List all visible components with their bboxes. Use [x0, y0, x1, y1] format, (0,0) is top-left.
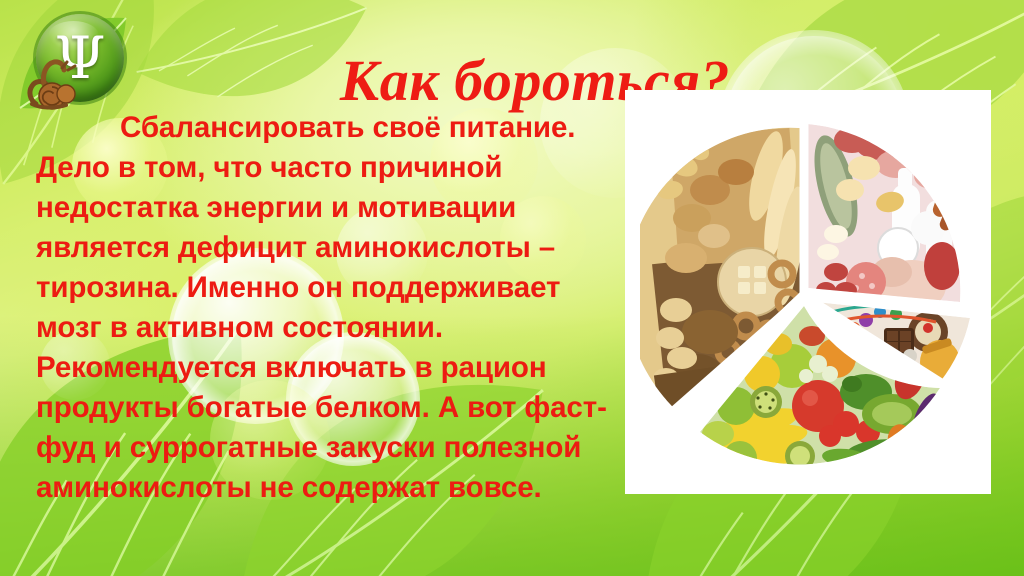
food-pie-illustration: [640, 106, 976, 478]
snail-icon: [22, 54, 80, 110]
body-copy: Сбалансировать своё питание. Дело в том,…: [36, 108, 628, 508]
balanced-nutrition-image: [625, 90, 991, 494]
slide: Ψ Как бороться? Сбалансировать своё пита…: [0, 0, 1024, 576]
paragraph-lead: Сбалансировать своё питание.: [36, 108, 628, 148]
paragraph-main: Дело в том, что часто причиной недостатк…: [36, 148, 628, 508]
logo[interactable]: Ψ: [14, 6, 130, 116]
